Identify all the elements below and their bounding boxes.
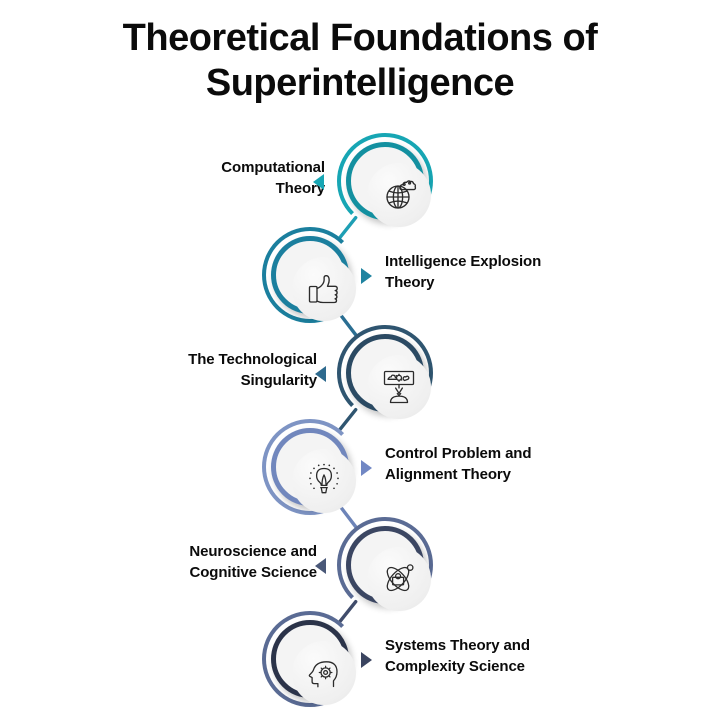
node-4-pointer-right-icon [361,460,372,476]
node-3-label: The TechnologicalSingularity [122,350,317,391]
node-6-label: Systems Theory andComplexity Science [385,636,590,677]
presentation-person-icon [367,355,431,419]
node-6-pointer-right-icon [361,652,372,668]
atom-person-icon [367,547,431,611]
node-3-inner-ring [346,334,424,412]
node-4-inner-ring [271,428,349,506]
node-1-pointer-left-icon [313,174,324,190]
node-6-label-line-1: Systems Theory and [385,637,530,654]
infographic-canvas: Theoretical Foundations of Superintellig… [0,0,720,720]
globe-cloud-icon [367,163,431,227]
node-1-label-line-1: Computational [221,159,325,176]
node-5-atom-person[interactable] [337,517,433,613]
node-3-label-line-1: The Technological [188,351,317,368]
node-5-pointer-left-icon [315,558,326,574]
node-2-thumbs-up[interactable] [262,227,358,323]
node-1-label: ComputationalTheory [145,158,325,199]
node-3-pointer-left-icon [315,366,326,382]
head-gear-icon [292,641,356,705]
node-6-inner-ring [271,620,349,698]
node-2-pointer-right-icon [361,268,372,284]
node-1-inner-ring [346,142,424,220]
node-2-label: Intelligence ExplosionTheory [385,252,595,293]
page-title: Theoretical Foundations of Superintellig… [60,16,660,106]
page-title-line-2: Superintelligence [60,61,660,106]
node-3-presentation-person[interactable] [337,325,433,421]
node-3-label-line-2: Singularity [241,372,317,389]
node-6-label-line-2: Complexity Science [385,658,525,675]
node-5-label-line-1: Neuroscience and [189,543,317,560]
node-4-label-line-2: Alignment Theory [385,466,511,483]
node-2-inner-ring [271,236,349,314]
node-5-label: Neuroscience andCognitive Science [122,542,317,583]
node-5-label-line-2: Cognitive Science [189,564,317,581]
node-4-label-line-1: Control Problem and [385,445,531,462]
node-1-globe-cloud[interactable] [337,133,433,229]
lightbulb-icon [292,449,356,513]
node-4-label: Control Problem andAlignment Theory [385,444,590,485]
node-6-head-gear[interactable] [262,611,358,707]
node-5-inner-ring [346,526,424,604]
node-4-lightbulb[interactable] [262,419,358,515]
thumbs-up-icon [292,257,356,321]
node-2-label-line-2: Theory [385,274,434,291]
node-2-label-line-1: Intelligence Explosion [385,253,541,270]
page-title-line-1: Theoretical Foundations of [123,17,598,59]
